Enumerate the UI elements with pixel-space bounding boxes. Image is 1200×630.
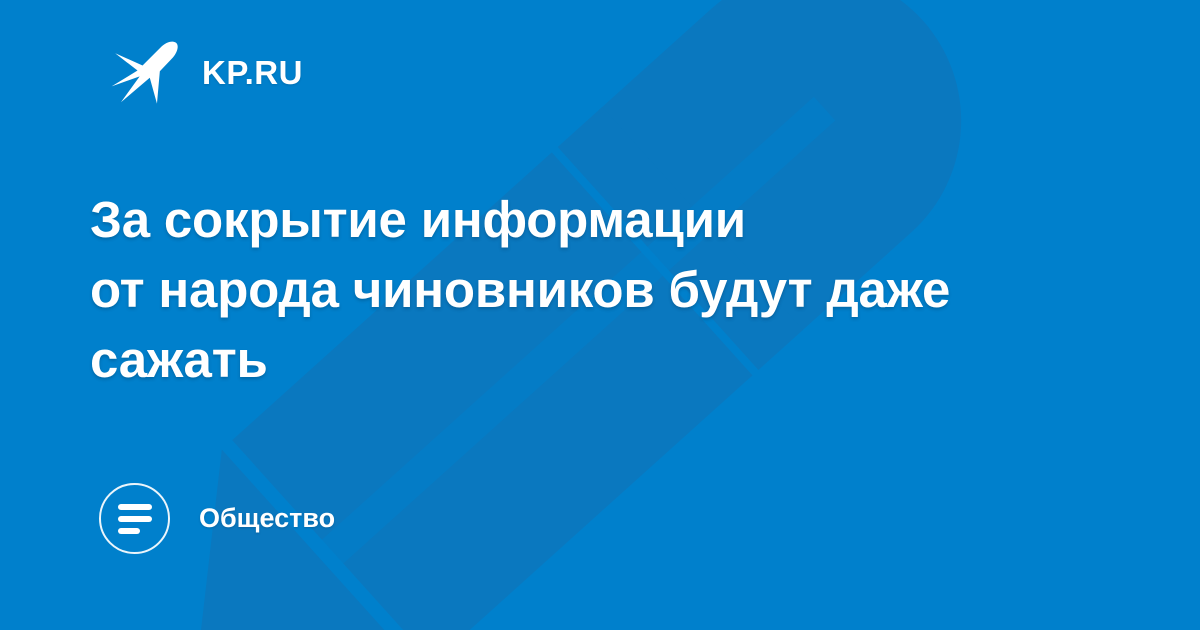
- headline-line-1: За сокрытие информации: [90, 185, 1110, 255]
- article-share-card: KP.RU За сокрытие информации от народа ч…: [0, 0, 1200, 630]
- category-section[interactable]: Общество: [99, 483, 335, 554]
- headline-line-2: от народа чиновников будут даже: [90, 255, 1110, 325]
- category-label: Общество: [199, 505, 335, 532]
- burger-line-1: [118, 504, 152, 510]
- hamburger-menu-icon: [118, 504, 152, 534]
- brand-wordmark: KP.RU: [202, 56, 303, 89]
- headline-line-3: сажать: [90, 325, 1110, 395]
- burger-line-3: [118, 528, 140, 534]
- article-headline: За сокрытие информации от народа чиновни…: [90, 185, 1110, 395]
- brand-header[interactable]: KP.RU: [108, 36, 303, 108]
- category-icon-badge[interactable]: [99, 483, 170, 554]
- swallow-bird-icon: [108, 36, 180, 108]
- burger-line-2: [118, 516, 152, 522]
